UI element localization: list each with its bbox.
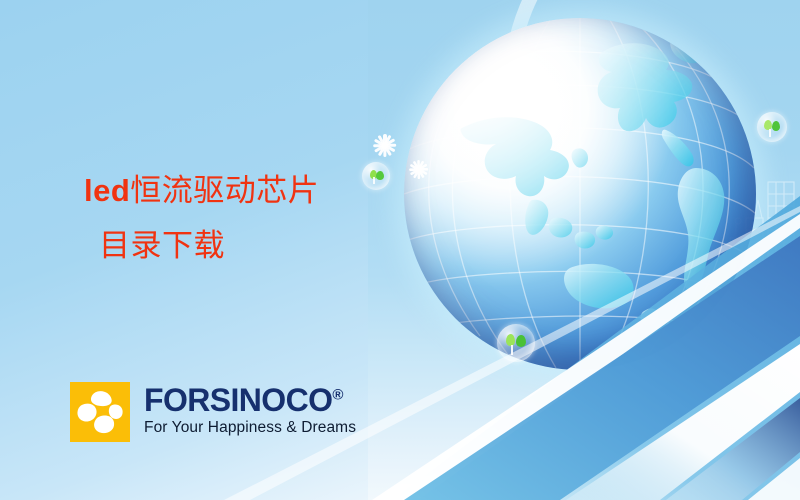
banner-canvas: led恒流驱动芯片 目录下载 FORSINOCO® For Your Happi… [0,0,800,500]
headline-line-2: 目录下载 [84,218,319,273]
brand-tagline: For Your Happiness & Dreams [144,419,356,437]
registered-mark: ® [332,386,342,403]
forsinoco-pinwheel-mark-icon [70,382,130,442]
logo-lockup[interactable]: FORSINOCO® For Your Happiness & Dreams [70,382,356,442]
brand-name: FORSINOCO® [144,383,356,417]
headline-block: led恒流驱动芯片 目录下载 [84,163,319,273]
headline-latin: led [84,173,130,208]
logo-text-block: FORSINOCO® For Your Happiness & Dreams [144,382,356,437]
headline-line-1: led恒流驱动芯片 [84,163,319,218]
headline-cjk: 恒流驱动芯片 [130,173,319,208]
brand-word: FORSINOCO [144,382,332,418]
